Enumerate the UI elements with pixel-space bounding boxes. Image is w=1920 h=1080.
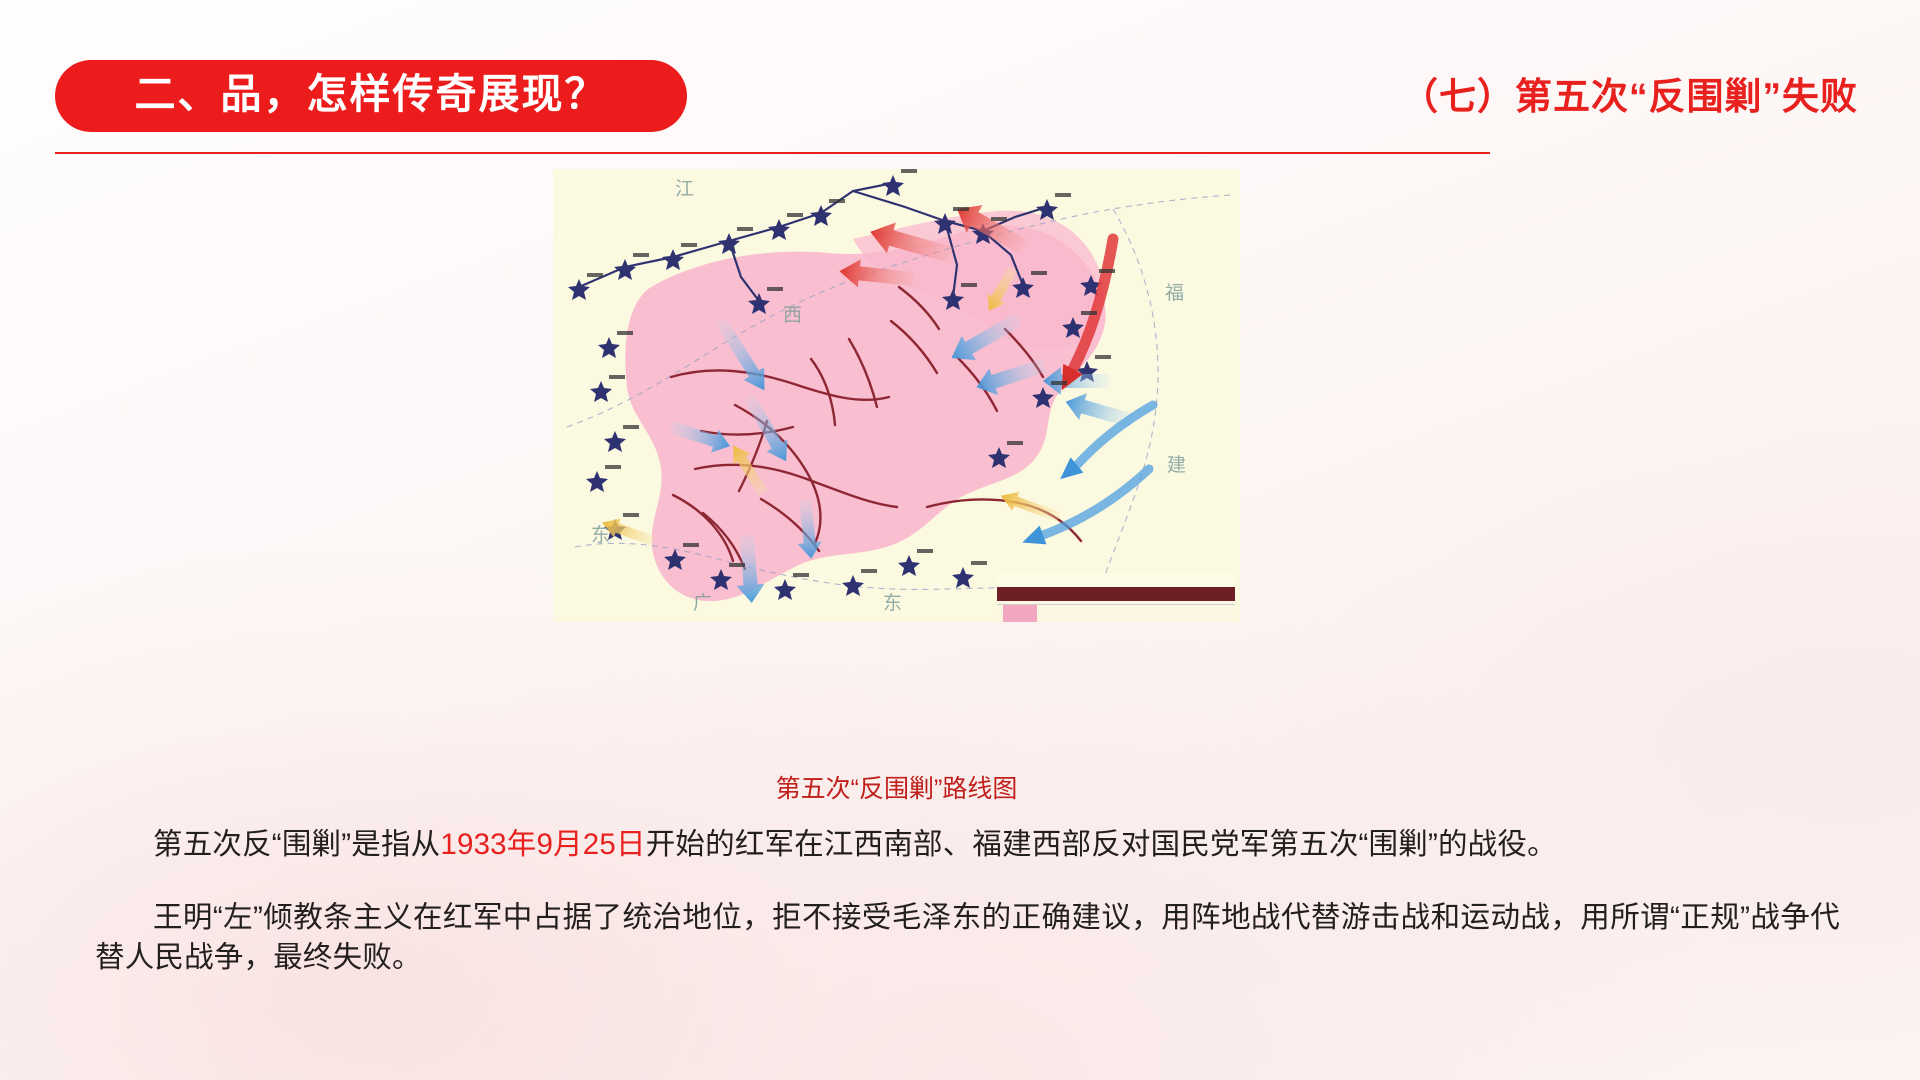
paragraph-1-part-2: 开始的红军在江西南部、福建西部反对国民党军第五次“围剿”的战役。: [646, 828, 1557, 861]
figure-caption: 第五次“反围剿”路线图: [553, 774, 1240, 804]
svg-text:福: 福: [1165, 282, 1184, 304]
section-title-text: 二、品，怎样传奇展现？: [135, 74, 608, 115]
page-title: （七）第五次“反围剿”失败: [1401, 78, 1858, 115]
map-figure: 江 西 福 建 东 广 东: [553, 169, 1240, 622]
svg-text:东: 东: [883, 592, 902, 614]
body-text-block: 第五次反“围剿”是指从1933年9月25日开始的红军在江西南部、福建西部反对国民…: [95, 825, 1840, 979]
map-legend-box: [997, 573, 1235, 622]
paragraph-1-part-1: 第五次反“围剿”是指从: [153, 828, 440, 861]
slide-canvas: 二、品，怎样传奇展现？ （七）第五次“反围剿”失败: [0, 0, 1920, 1080]
svg-text:西: 西: [783, 304, 802, 326]
paragraph-1: 第五次反“围剿”是指从1933年9月25日开始的红军在江西南部、福建西部反对国民…: [95, 825, 1840, 866]
route-map-svg: 江 西 福 建 东 广 东: [553, 169, 1240, 622]
header-divider: [55, 152, 1490, 154]
highlight-date: 1933年9月25日: [440, 828, 645, 861]
svg-text:东: 东: [591, 524, 610, 546]
svg-text:江: 江: [675, 178, 694, 200]
route-map-image: 江 西 福 建 东 广 东: [553, 169, 1240, 622]
svg-text:广: 广: [693, 592, 712, 614]
paragraph-2: 王明“左”倾教条主义在红军中占据了统治地位，拒不接受毛泽东的正确建议，用阵地战代…: [95, 898, 1840, 979]
section-title-pill: 二、品，怎样传奇展现？: [55, 60, 687, 132]
svg-text:建: 建: [1167, 454, 1186, 476]
